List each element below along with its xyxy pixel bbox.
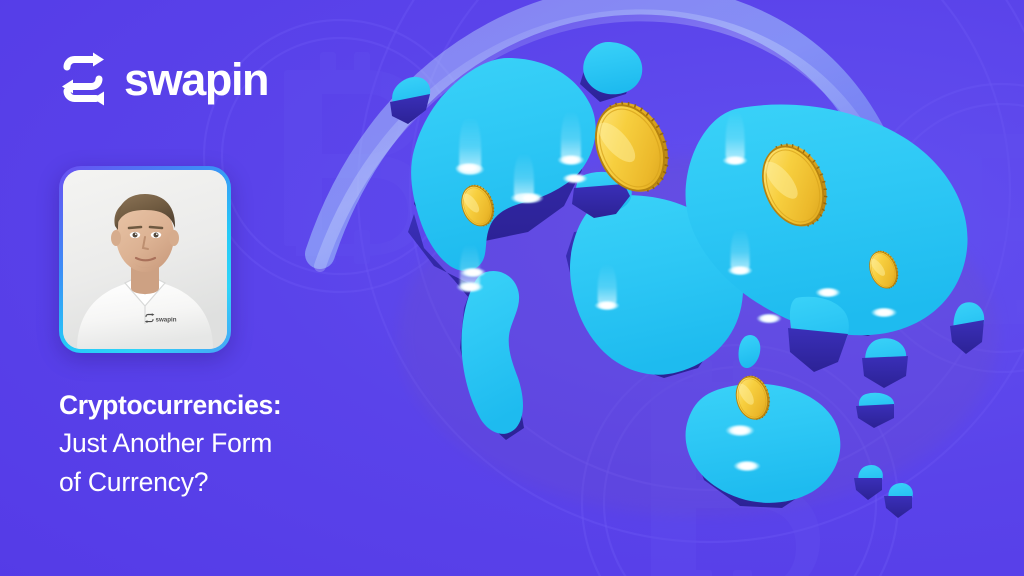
brand-name: swapin xyxy=(124,57,268,102)
headline-line-2: Just Another Form xyxy=(59,424,389,462)
svg-text:swapin: swapin xyxy=(156,317,177,324)
page-title: Cryptocurrencies: Just Another Form of C… xyxy=(59,386,389,501)
promo-banner: swapin xyxy=(0,0,1024,576)
avatar-photo: swapin xyxy=(63,170,227,349)
brand-logo[interactable]: swapin xyxy=(56,50,268,108)
headline-line-1: Cryptocurrencies: xyxy=(59,386,389,424)
world-map-3d-icon xyxy=(368,36,1024,548)
swap-arrows-icon xyxy=(56,50,110,108)
headline-line-3: of Currency? xyxy=(59,463,389,501)
avatar: swapin xyxy=(59,166,231,353)
